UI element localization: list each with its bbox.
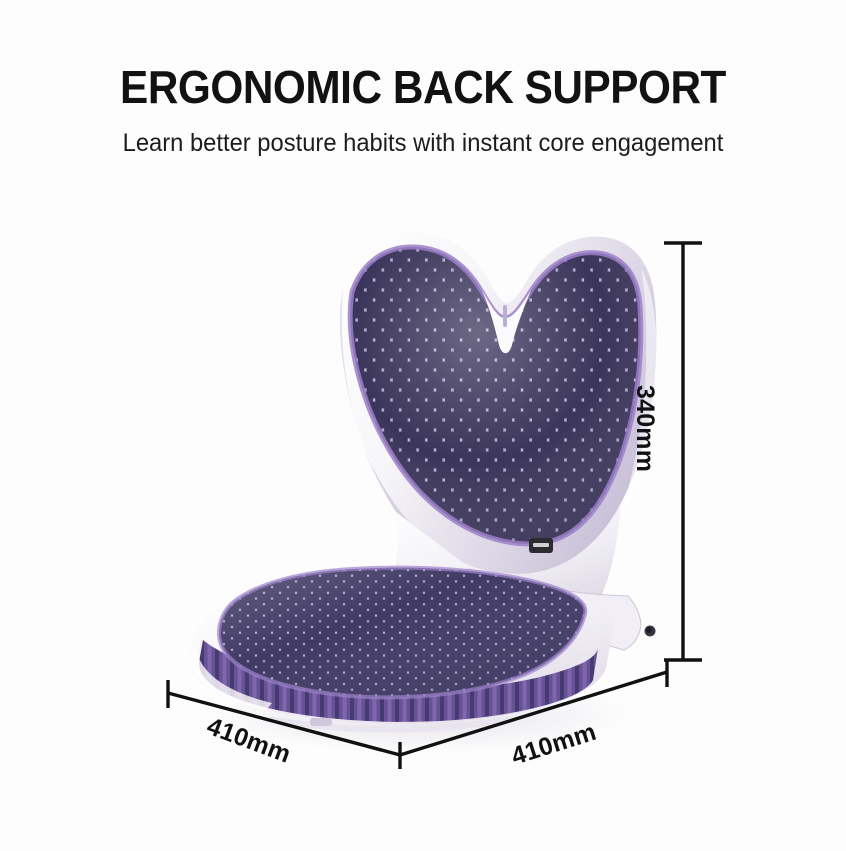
product-image [0,0,846,846]
brand-badge [529,538,553,553]
seat-front-tab [310,718,332,726]
product-infographic-canvas: ERGONOMIC BACK SUPPORT Learn better post… [0,0,846,846]
